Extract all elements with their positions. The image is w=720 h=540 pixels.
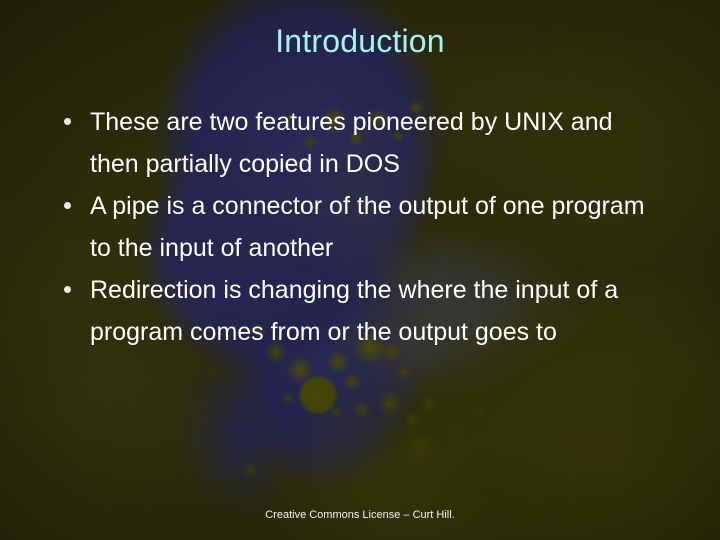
bullet-text: Redirection is changing the where the in… — [90, 269, 652, 353]
slide-title: Introduction — [0, 24, 720, 59]
slide-bullet-list: These are two features pioneered by UNIX… — [52, 101, 652, 353]
list-item: A pipe is a connector of the output of o… — [52, 185, 652, 269]
slide-content: Introduction These are two features pion… — [0, 0, 720, 540]
bullet-dot-icon — [64, 118, 71, 125]
bullet-dot-icon — [64, 202, 71, 209]
list-item: Redirection is changing the where the in… — [52, 269, 652, 353]
bullet-dot-icon — [64, 286, 71, 293]
slide-footer-attribution: Creative Commons License – Curt Hill. — [0, 508, 720, 523]
presentation-slide: Introduction These are two features pion… — [0, 0, 720, 540]
bullet-text: A pipe is a connector of the output of o… — [90, 185, 652, 269]
bullet-text: These are two features pioneered by UNIX… — [90, 101, 652, 185]
list-item: These are two features pioneered by UNIX… — [52, 101, 652, 185]
